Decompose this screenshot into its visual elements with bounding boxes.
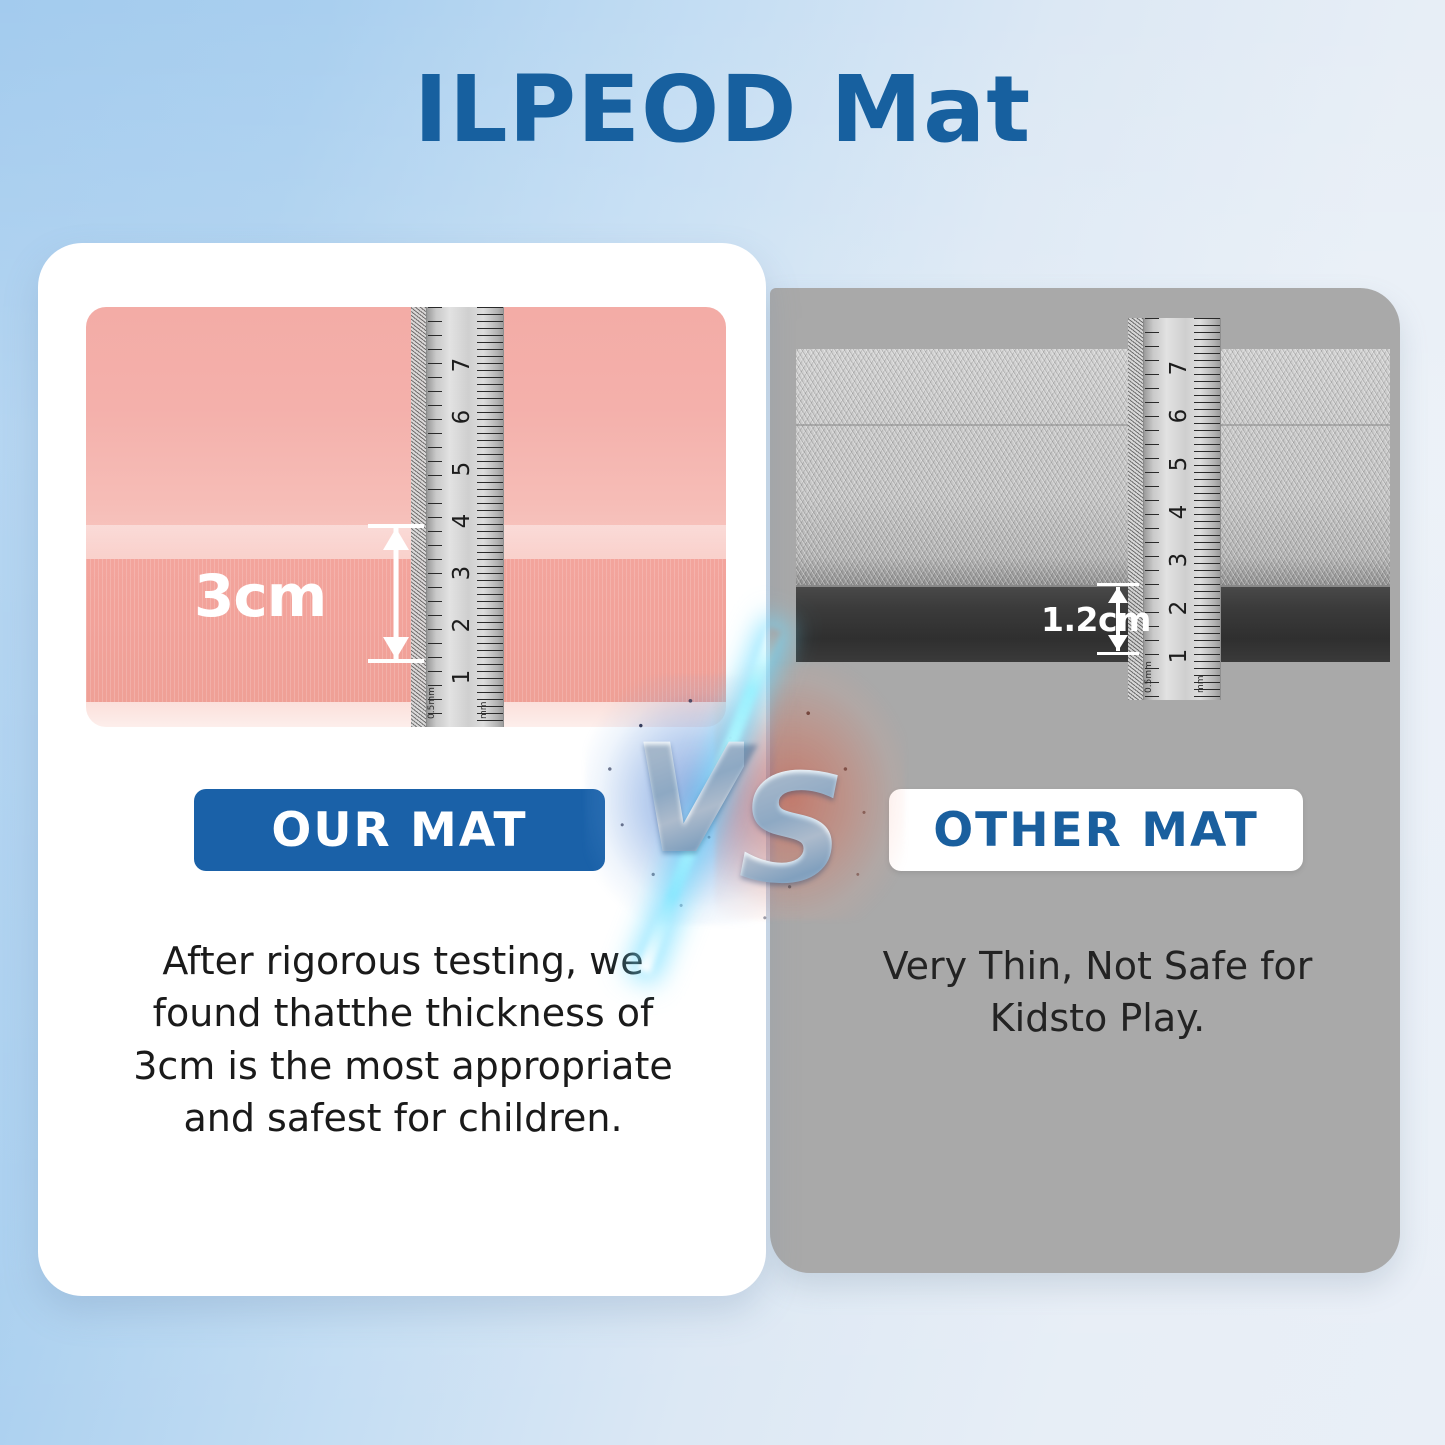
other-mat-ruler: 1 2 3 4 5 6 7 0.5mm mm: [1128, 318, 1220, 700]
ruler-number: 4: [449, 504, 475, 538]
ruler-number: 4: [1166, 495, 1192, 529]
pink-mat-top-layer: [86, 307, 726, 559]
ruler-number: 5: [449, 452, 475, 486]
ruler-number: 7: [1166, 351, 1192, 385]
grey-mat-fabric-layer: [796, 349, 1390, 586]
measure-arrowhead-up-icon: [383, 528, 409, 550]
our-mat-thickness-label: 3cm: [194, 562, 326, 630]
page-title: ILPEOD Mat: [0, 62, 1445, 159]
ruler-number: 2: [1166, 591, 1192, 625]
vs-letter-v: V: [632, 725, 744, 875]
ruler-major-ticks: [1145, 318, 1159, 700]
other-mat-photo: 1 2 3 4 5 6 7 0.5mm mm 1.2cm: [796, 318, 1390, 700]
ruler-knurled-edge-icon: [411, 307, 426, 727]
infographic-canvas: ILPEOD Mat 1 2 3 4 5 6 7 0.5mm mm: [0, 0, 1445, 1445]
ruler-number: 1: [1166, 639, 1192, 673]
measure-cap-bottom: [368, 659, 424, 663]
ruler-number: 3: [1166, 543, 1192, 577]
ruler-precision-label: 0.5mm: [1144, 661, 1154, 693]
measure-cap-top: [1097, 583, 1139, 586]
ruler-number: 6: [1166, 399, 1192, 433]
ruler-minor-ticks: [1194, 318, 1220, 700]
measure-arrowhead-down-icon: [383, 637, 409, 659]
other-mat-caption: Very Thin, Not Safe for Kidsto Play.: [845, 940, 1350, 1045]
ruler-number: 6: [449, 400, 475, 434]
ruler-minor-ticks: [477, 307, 503, 727]
ruler-number: 7: [449, 348, 475, 382]
ruler-precision-label: 0.5mm: [427, 687, 437, 719]
our-mat-measure-arrow: [366, 524, 426, 663]
vs-letters: VS: [585, 645, 895, 955]
ruler-number: 3: [449, 556, 475, 590]
our-mat-caption: After rigorous testing, we found thatthe…: [118, 935, 688, 1145]
ruler-unit-label: mm: [479, 701, 489, 719]
grey-background-top: [796, 318, 1390, 349]
ruler-number: 2: [449, 608, 475, 642]
ruler-number: 1: [449, 660, 475, 694]
other-mat-thickness-label: 1.2cm: [1041, 600, 1151, 639]
ruler-number: 5: [1166, 447, 1192, 481]
ruler-unit-label: mm: [1196, 675, 1206, 693]
vs-badge: VS: [585, 645, 895, 955]
ruler-major-ticks: [428, 307, 442, 727]
grey-mat-seam: [796, 424, 1390, 426]
other-mat-pill[interactable]: OTHER MAT: [889, 789, 1303, 871]
our-mat-pill[interactable]: OUR MAT: [194, 789, 605, 871]
our-mat-ruler: 1 2 3 4 5 6 7 0.5mm mm: [411, 307, 503, 727]
measure-cap-bottom: [1097, 652, 1139, 655]
vs-letter-s: S: [738, 755, 842, 905]
